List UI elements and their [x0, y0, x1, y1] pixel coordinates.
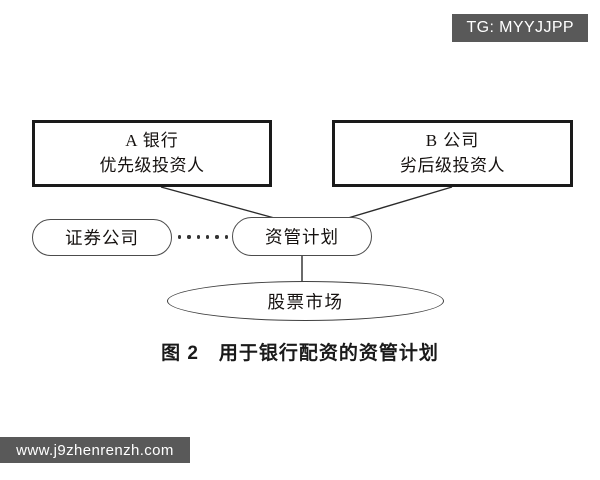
watermark-bottom-badge: www.j9zhenrenzh.com — [0, 437, 190, 463]
watermark-top-badge: TG: MYYJJPP — [452, 14, 588, 42]
dot — [197, 235, 200, 238]
figure-caption-title: 用于银行配资的资管计划 — [219, 343, 439, 364]
node-stock-market-label: 股票市场 — [268, 289, 344, 314]
node-company-b: B 公司 劣后级投资人 — [332, 120, 573, 187]
edge-securities-to-amp — [178, 231, 228, 243]
dot — [187, 235, 190, 238]
dot — [178, 235, 181, 238]
figure-canvas: A 银行 优先级投资人 B 公司 劣后级投资人 证券公司 资管计划 股票市场 图… — [0, 0, 600, 480]
edge-company-b-to-amp — [348, 187, 452, 218]
figure-caption-label: 图 2 — [161, 343, 199, 364]
watermark-top-text: TG: MYYJJPP — [466, 19, 574, 37]
node-asset-management-plan-label: 资管计划 — [265, 224, 339, 249]
dot — [215, 235, 218, 238]
node-company-b-line2: 劣后级投资人 — [400, 154, 505, 178]
watermark-bottom-text: www.j9zhenrenzh.com — [16, 442, 174, 459]
node-bank-a-line1: A 银行 — [125, 129, 179, 153]
node-company-b-line1: B 公司 — [426, 129, 480, 153]
figure-caption: 图 2用于银行配资的资管计划 — [0, 338, 600, 365]
node-bank-a: A 银行 优先级投资人 — [32, 120, 272, 187]
dot — [225, 235, 228, 238]
node-asset-management-plan: 资管计划 — [232, 217, 372, 256]
node-bank-a-line2: 优先级投资人 — [100, 154, 205, 178]
edge-bank-a-to-amp — [161, 187, 278, 219]
node-securities-firm-label: 证券公司 — [65, 225, 139, 250]
node-stock-market: 股票市场 — [167, 281, 444, 321]
dot — [206, 235, 209, 238]
node-securities-firm: 证券公司 — [32, 219, 172, 256]
